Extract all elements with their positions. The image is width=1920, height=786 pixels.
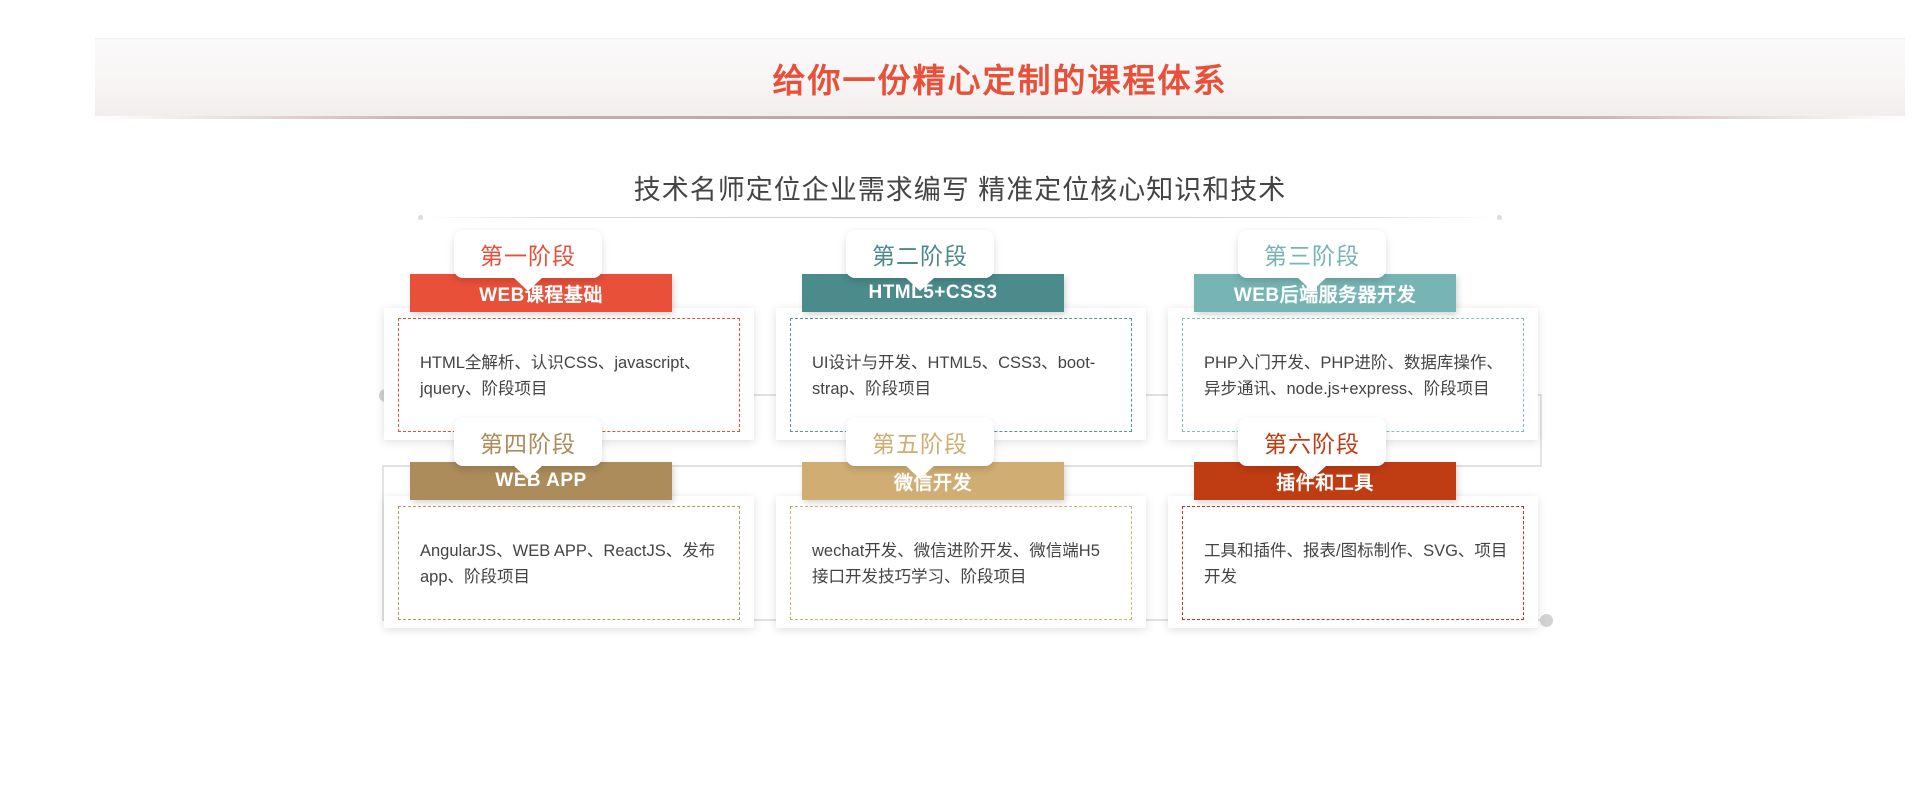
stage-description-3: PHP入门开发、PHP进阶、数据库操作、异步通讯、node.js+express… bbox=[1204, 350, 1508, 402]
page-subtitle: 技术名师定位企业需求编写 精准定位核心知识和技术 bbox=[634, 168, 1287, 207]
stage-card-6[interactable]: 插件和工具 第六阶段 工具和插件、报表/图标制作、SVG、项目开发 bbox=[1182, 506, 1524, 626]
stage-description-6: 工具和插件、报表/图标制作、SVG、项目开发 bbox=[1204, 538, 1508, 590]
course-curriculum-page: 给你一份精心定制的课程体系 技术名师定位企业需求编写 精准定位核心知识和技术 W… bbox=[0, 0, 1920, 786]
stage-pill-1: 第一阶段 bbox=[454, 230, 602, 278]
stage-pill-4: 第四阶段 bbox=[454, 418, 602, 466]
stage-pill-5: 第五阶段 bbox=[846, 418, 994, 466]
stage-description-5: wechat开发、微信进阶开发、微信端H5接口开发技巧学习、阶段项目 bbox=[812, 538, 1116, 590]
title-band: 给你一份精心定制的课程体系 bbox=[95, 38, 1905, 116]
stage-card-4[interactable]: WEB APP 第四阶段 AngularJS、WEB APP、ReactJS、发… bbox=[398, 506, 740, 626]
subtitle-divider bbox=[420, 217, 1500, 218]
stage-description-2: UI设计与开发、HTML5、CSS3、boot-strap、阶段项目 bbox=[812, 350, 1116, 402]
stage-description-4: AngularJS、WEB APP、ReactJS、发布app、阶段项目 bbox=[420, 538, 724, 590]
subtitle-wrap: 技术名师定位企业需求编写 精准定位核心知识和技术 bbox=[0, 168, 1920, 207]
divider-dot-right bbox=[1497, 215, 1502, 220]
stage-pill-2: 第二阶段 bbox=[846, 230, 994, 278]
divider-dot-left bbox=[418, 215, 423, 220]
stage-card-5[interactable]: 微信开发 第五阶段 wechat开发、微信进阶开发、微信端H5接口开发技巧学习、… bbox=[790, 506, 1132, 626]
stage-row-2: WEB APP 第四阶段 AngularJS、WEB APP、ReactJS、发… bbox=[0, 506, 1920, 686]
stage-pill-3: 第三阶段 bbox=[1238, 230, 1386, 278]
stage-pill-6: 第六阶段 bbox=[1238, 418, 1386, 466]
page-title: 给你一份精心定制的课程体系 bbox=[95, 54, 1905, 102]
stage-description-1: HTML全解析、认识CSS、javascript、jquery、阶段项目 bbox=[420, 350, 724, 402]
